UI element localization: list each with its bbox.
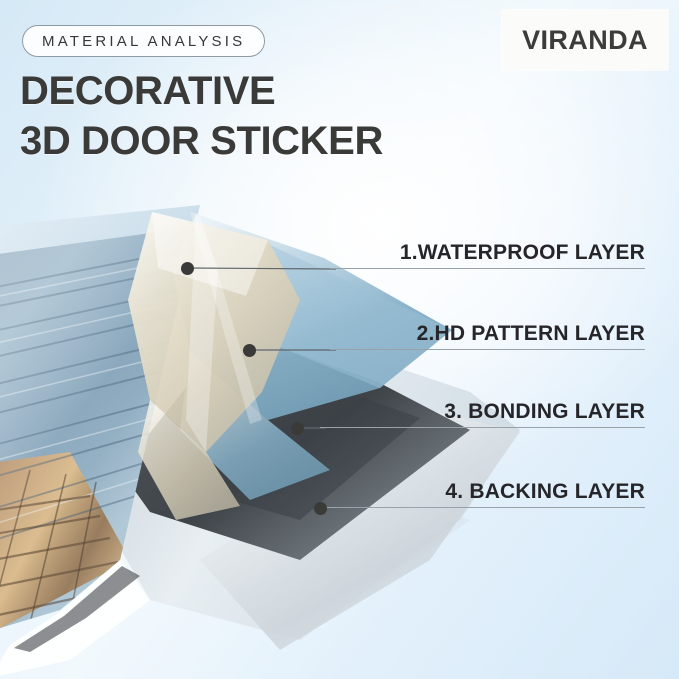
callout-rule: [320, 427, 645, 428]
callout-dot-backing-layer: [314, 502, 327, 515]
callout-label: 2.HD PATTERN LAYER: [417, 322, 645, 346]
callout-rule: [330, 268, 645, 269]
callout-bonding-layer: 3. BONDING LAYER: [320, 398, 645, 428]
brand-name: VIRANDA: [522, 25, 648, 56]
callout-label: 3. BONDING LAYER: [444, 400, 645, 424]
callout-dot-bonding-layer: [291, 422, 304, 435]
callout-rule: [320, 507, 645, 508]
callout-waterproof-layer: 1.WATERPROOF LAYER: [330, 239, 645, 269]
callout-label: 4. BACKING LAYER: [445, 480, 645, 504]
poster-canvas: MATERIAL ANALYSIS DECORATIVE 3D DOOR STI…: [0, 0, 679, 679]
brand-logo: VIRANDA: [502, 10, 668, 70]
eyebrow-label: MATERIAL ANALYSIS: [42, 33, 245, 50]
callout-backing-layer: 4. BACKING LAYER: [320, 478, 645, 508]
eyebrow-badge: MATERIAL ANALYSIS: [22, 25, 265, 57]
callout-label: 1.WATERPROOF LAYER: [400, 241, 645, 265]
callout-hd-pattern-layer: 2.HD PATTERN LAYER: [330, 320, 645, 350]
callout-dot-waterproof-layer: [181, 262, 194, 275]
page-title: DECORATIVE 3D DOOR STICKER: [20, 66, 383, 167]
callout-dot-hd-pattern-layer: [243, 344, 256, 357]
callout-rule: [330, 349, 645, 350]
